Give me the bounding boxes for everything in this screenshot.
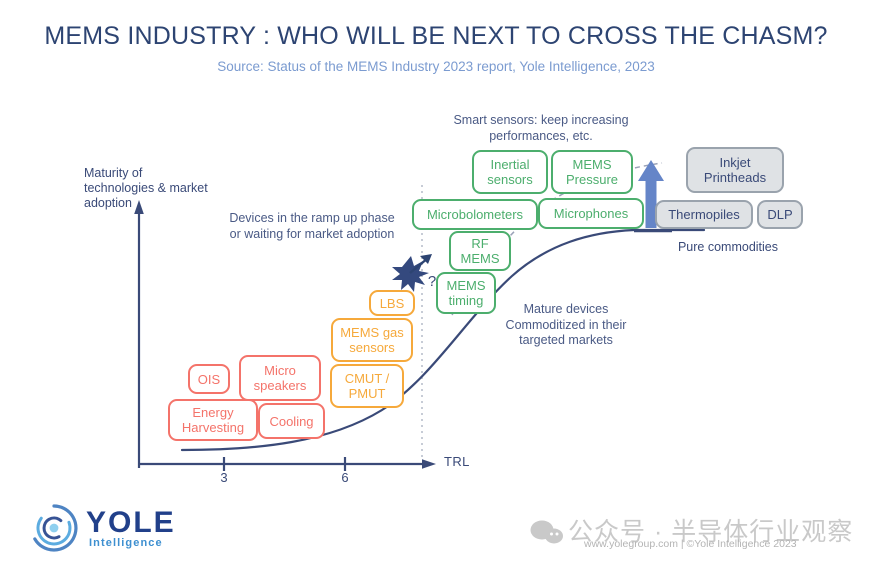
- annotation-smart-sensors: Smart sensors: keep increasing performan…: [432, 113, 650, 144]
- device-box-energy-harvesting: Energy Harvesting: [168, 399, 258, 441]
- wechat-icon: [530, 519, 564, 545]
- wechat-watermark: 公众号 · 半导体行业观察 www.yolegroup.com | ©Yole …: [524, 505, 872, 557]
- annotation-pure-commodities: Pure commodities: [648, 240, 808, 256]
- device-box-lbs: LBS: [369, 290, 415, 316]
- device-box-cooling: Cooling: [258, 403, 325, 439]
- y-axis-label: Maturity of technologies & market adopti…: [84, 166, 214, 211]
- yole-wordmark: YOLE: [86, 506, 176, 540]
- device-box-rf-mems: RF MEMS: [449, 231, 511, 271]
- x-axis: [139, 457, 436, 471]
- device-box-thermopiles: Thermopiles: [655, 200, 753, 229]
- page-subtitle: Source: Status of the MEMS Industry 2023…: [0, 59, 872, 74]
- device-box-mems-pressure: MEMS Pressure: [551, 150, 633, 194]
- device-box-inertial-sensors: Inertial sensors: [472, 150, 548, 194]
- x-tick-6: 6: [335, 470, 355, 485]
- page-title: MEMS INDUSTRY : WHO WILL BE NEXT TO CROS…: [0, 22, 872, 51]
- slide-canvas: MEMS INDUSTRY : WHO WILL BE NEXT TO CROS…: [0, 0, 872, 564]
- yole-logo: YOLE Intelligence: [28, 500, 198, 556]
- x-tick-3: 3: [214, 470, 234, 485]
- device-box-mems-timing: MEMS timing: [436, 272, 496, 314]
- device-box-inkjet-printheads: Inkjet Printheads: [686, 147, 784, 193]
- x-axis-label: TRL: [444, 454, 470, 469]
- device-box-ois: OIS: [188, 364, 230, 394]
- device-box-micro-speakers: Micro speakers: [239, 355, 321, 401]
- y-axis: [134, 200, 144, 468]
- annotation-ramp-up: Devices in the ramp up phase or waiting …: [224, 211, 400, 242]
- device-box-microbolometers: Microbolometers: [412, 199, 538, 230]
- device-box-mems-gas-sensors: MEMS gas sensors: [331, 318, 413, 362]
- device-box-dlp: DLP: [757, 200, 803, 229]
- yole-tagline: Intelligence: [89, 537, 163, 549]
- annotation-mature-devices: Mature devices Commoditized in their tar…: [486, 302, 646, 349]
- yole-spiral-icon: [28, 502, 80, 554]
- device-box-microphones: Microphones: [538, 198, 644, 229]
- device-box-cmut-pmut: CMUT / PMUT: [330, 364, 404, 408]
- copyright-text: www.yolegroup.com | ©Yole Intelligence 2…: [584, 538, 797, 550]
